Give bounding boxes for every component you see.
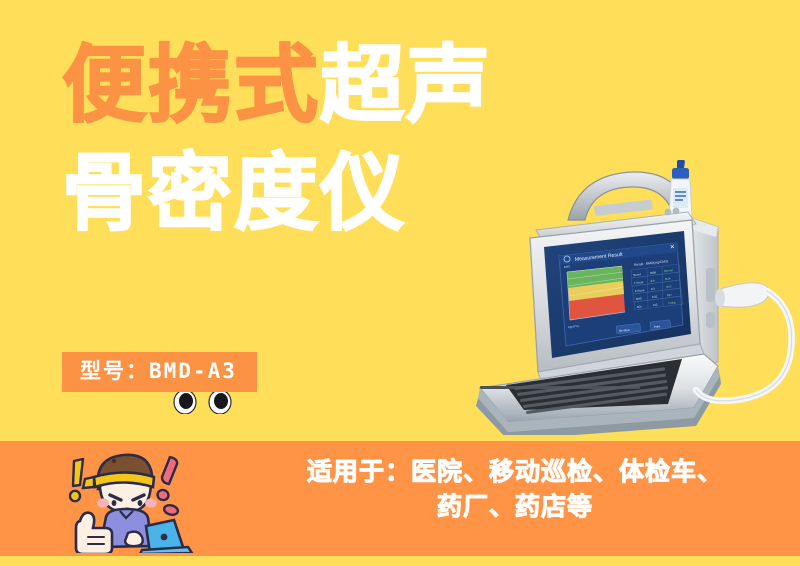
svg-text:SOS: SOS — [666, 284, 672, 289]
poster-root: 便携式超声 骨密度仪 型号：BMD-A3 — [0, 0, 800, 566]
svg-text:Print: Print — [654, 324, 661, 329]
svg-text:BUA: BUA — [665, 276, 671, 281]
footer-text: 适用于：医院、移动巡检、体检车、 药厂、药店等 — [255, 455, 775, 524]
headline-line-1-part-1: 便携式 — [62, 36, 320, 134]
headline-line-1-part-2: 超声 — [320, 36, 492, 134]
svg-text:BMD: BMD — [636, 296, 642, 301]
model-badge-wrap: 型号：BMD-A3 — [62, 352, 257, 392]
svg-text:3968: 3968 — [650, 270, 657, 275]
device-illustration: Measurement Result ✕ BMD Age(Yrs) Result… — [468, 160, 800, 435]
footer-text-line-1: 适用于：医院、移动巡检、体检车、 — [255, 455, 775, 490]
svg-text:BMD: BMD — [564, 264, 571, 269]
screen-close-icon: ✕ — [670, 244, 676, 251]
model-number-badge: 型号：BMD-A3 — [62, 352, 257, 392]
thumbs-up-mascot-icon — [58, 447, 200, 553]
svg-text:BQI: BQI — [637, 304, 642, 309]
headline-line-1: 便携式超声 — [62, 44, 742, 126]
footer-text-line-2: 药厂、药店等 — [255, 490, 775, 525]
svg-text:0.62: 0.62 — [652, 294, 658, 299]
